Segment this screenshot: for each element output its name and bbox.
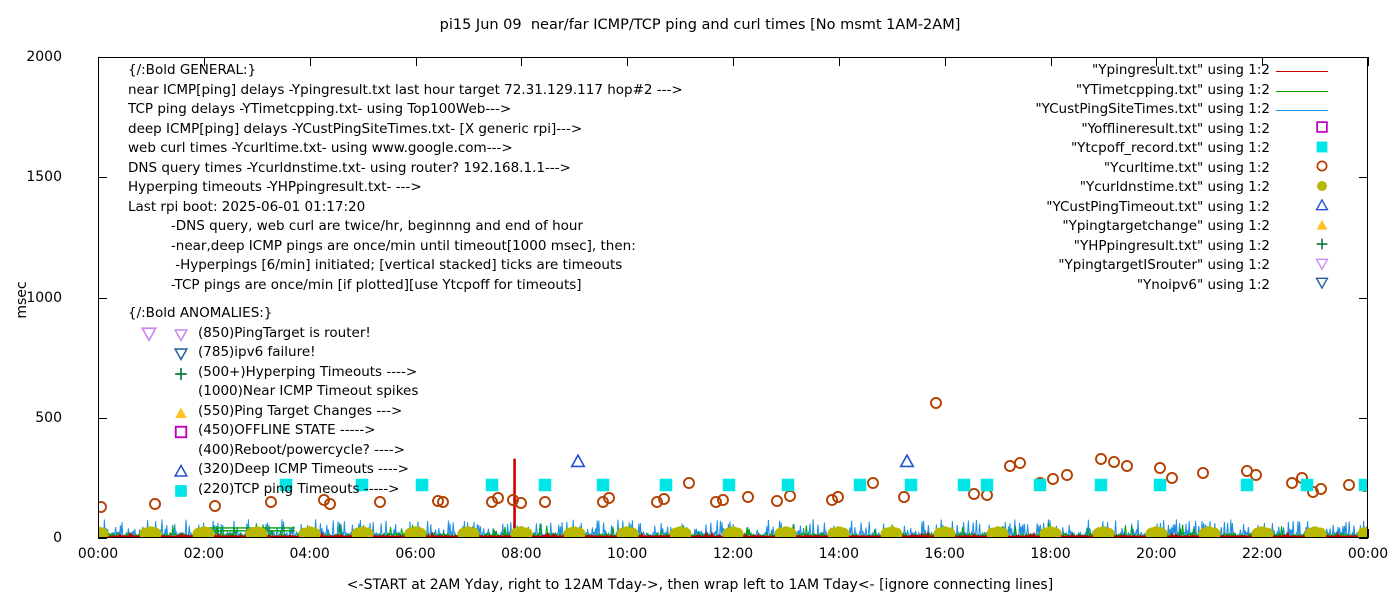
legend-item: "YHPpingresult.txt" using 1:2 (998, 238, 1328, 258)
y-tick-mark (98, 538, 107, 539)
legend-item: "Ytcpoff_record.txt" using 1:2 (998, 140, 1328, 160)
x-tick-label: 04:00 (289, 546, 329, 562)
legend-key-line-icon (1276, 101, 1328, 121)
legend-key-circle-fill-icon (1276, 179, 1328, 199)
legend-label: "YTimetcpping.txt" using 1:2 (1076, 82, 1270, 98)
anomalies-heading: {/:Bold ANOMALIES:} (128, 307, 418, 327)
general-note-line: web curl times -Ycurltime.txt- using www… (128, 142, 683, 162)
anomaly-label: (1000)Near ICMP Timeout spikes (198, 385, 418, 399)
legend-item: "Ycurldnstime.txt" using 1:2 (998, 179, 1328, 199)
general-notes-block: {/:Bold GENERAL:}near ICMP[ping] delays … (128, 64, 683, 298)
x-tick-label: 18:00 (1030, 546, 1070, 562)
tri-down-open-icon (174, 328, 190, 344)
anomalies-notes-block: {/:Bold ANOMALIES:}(850)PingTarget is ro… (128, 307, 418, 502)
legend-label: "Yofflineresult.txt" using 1:2 (1081, 121, 1270, 137)
legend-label: "YCustPingTimeout.txt" using 1:2 (1046, 199, 1270, 215)
tri-up-open-icon (174, 464, 190, 480)
legend-item: "Yofflineresult.txt" using 1:2 (998, 121, 1328, 141)
anomaly-legend-item: (320)Deep ICMP Timeouts ----> (128, 463, 418, 483)
y-tick-label: 500 (35, 410, 62, 426)
page-title: pi15 Jun 09 near/far ICMP/TCP ping and c… (0, 17, 1400, 33)
x-tick-label: 08:00 (501, 546, 541, 562)
general-note-line: TCP ping delays -YTimetcpping.txt- using… (128, 103, 683, 123)
legend-key-square-open-icon (1276, 121, 1328, 141)
legend-item: "Ypingtargetchange" using 1:2 (998, 218, 1328, 238)
y-tick-label: 1000 (26, 290, 62, 306)
x-tick-mark (1368, 57, 1369, 66)
legend-key-tri-up-open-icon (1276, 199, 1328, 219)
anomaly-legend-item: (785)ipv6 failure! (128, 346, 418, 366)
legend-key-tri-down-open-icon (1276, 277, 1328, 297)
legend-item: "Ynoipv6" using 1:2 (998, 277, 1328, 297)
x-tick-label: 00:00 (78, 546, 118, 562)
anomaly-label: (550)Ping Target Changes ---> (198, 405, 402, 419)
y-tick-label: 2000 (26, 49, 62, 65)
legend-key-circle-open-icon (1276, 160, 1328, 180)
anomaly-label: (220)TCP ping Timeouts -----> (198, 483, 400, 497)
general-note-line: -Hyperpings [6/min] initiated; [vertical… (128, 259, 683, 279)
legend-label: "YHPpingresult.txt" using 1:2 (1074, 238, 1270, 254)
anomaly-label: (785)ipv6 failure! (198, 346, 316, 360)
square-fill-icon (174, 484, 190, 500)
square-open-icon (174, 425, 190, 441)
general-note-line: Hyperping timeouts -YHPpingresult.txt- -… (128, 181, 683, 201)
x-tick-mark (1368, 529, 1369, 538)
x-axis-label: <-START at 2AM Yday, right to 12AM Tday-… (0, 577, 1400, 593)
plus-icon (174, 367, 190, 383)
y-tick-mark (1359, 538, 1368, 539)
legend-label: "YCustPingSiteTimes.txt" using 1:2 (1035, 101, 1270, 117)
legend-item: "YTimetcpping.txt" using 1:2 (998, 82, 1328, 102)
legend-key-plus-icon (1276, 238, 1328, 258)
legend-item: "YCustPingTimeout.txt" using 1:2 (998, 199, 1328, 219)
legend-label: "Ypingtargetchange" using 1:2 (1062, 218, 1270, 234)
legend-key-square-fill-icon (1276, 140, 1328, 160)
legend-key-tri-up-fill-icon (1276, 218, 1328, 238)
anomaly-label: (500+)Hyperping Timeouts ----> (198, 366, 417, 380)
anomaly-legend-item: (450)OFFLINE STATE -----> (128, 424, 418, 444)
legend-label: "Ynoipv6" using 1:2 (1137, 277, 1270, 293)
legend: "Ypingresult.txt" using 1:2"YTimetcpping… (998, 62, 1328, 296)
legend-label: "Ycurltime.txt" using 1:2 (1104, 160, 1270, 176)
x-tick-label: 14:00 (819, 546, 859, 562)
legend-item: "Ypingresult.txt" using 1:2 (998, 62, 1328, 82)
legend-key-line-icon (1276, 82, 1328, 102)
anomaly-label: (450)OFFLINE STATE -----> (198, 424, 376, 438)
x-tick-label: 22:00 (1242, 546, 1282, 562)
legend-label: "Ytcpoff_record.txt" using 1:2 (1071, 140, 1270, 156)
x-tick-label: 20:00 (1136, 546, 1176, 562)
y-tick-label: 1500 (26, 169, 62, 185)
general-note-line: -TCP pings are once/min [if plotted][use… (128, 279, 683, 299)
legend-item: "YCustPingSiteTimes.txt" using 1:2 (998, 101, 1328, 121)
general-heading: {/:Bold GENERAL:} (128, 64, 683, 84)
anomaly-label: (850)PingTarget is router! (198, 327, 371, 341)
x-tick-label: 10:00 (607, 546, 647, 562)
x-tick-label: 12:00 (713, 546, 753, 562)
y-tick-label: 0 (53, 530, 62, 546)
x-tick-label: 00:00 (1348, 546, 1388, 562)
legend-label: "Ypingresult.txt" using 1:2 (1092, 62, 1270, 78)
x-tick-label: 16:00 (924, 546, 964, 562)
legend-key-tri-down-open-icon (1276, 257, 1328, 277)
legend-label: "Ycurldnstime.txt" using 1:2 (1080, 179, 1270, 195)
legend-item: "YpingtargetISrouter" using 1:2 (998, 257, 1328, 277)
legend-item: "Ycurltime.txt" using 1:2 (998, 160, 1328, 180)
legend-label: "YpingtargetISrouter" using 1:2 (1058, 257, 1270, 273)
x-tick-label: 06:00 (395, 546, 435, 562)
tri-down-open-icon (174, 347, 190, 363)
general-note-line: -DNS query, web curl are twice/hr, begin… (128, 220, 683, 240)
legend-key-line-icon (1276, 62, 1328, 82)
anomaly-label: (320)Deep ICMP Timeouts ----> (198, 463, 409, 477)
anomaly-label: (400)Reboot/powercycle? ----> (198, 444, 405, 458)
anomaly-legend-item: (1000)Near ICMP Timeout spikes (128, 385, 418, 405)
tri-up-fill-icon (174, 406, 190, 422)
anomaly-legend-item: (220)TCP ping Timeouts -----> (128, 483, 418, 503)
x-tick-label: 02:00 (184, 546, 224, 562)
